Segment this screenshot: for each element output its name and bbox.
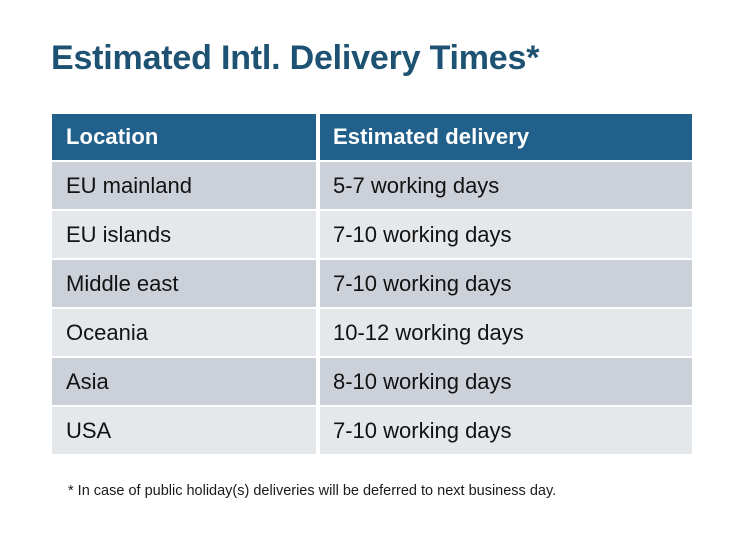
cell-delivery-value: 8-10 working days: [333, 369, 512, 395]
cell-delivery-value: 7-10 working days: [333, 271, 512, 297]
table-header-cell-location: Location: [52, 114, 316, 160]
table-row: Asia 8-10 working days: [52, 358, 692, 405]
table-row: Middle east 7-10 working days: [52, 260, 692, 307]
column-header-location: Location: [66, 124, 158, 150]
table-cell-delivery: 7-10 working days: [320, 260, 692, 307]
table-cell-location: USA: [52, 407, 316, 454]
cell-delivery-value: 10-12 working days: [333, 320, 524, 346]
cell-location-value: EU islands: [66, 222, 171, 248]
table-cell-delivery: 7-10 working days: [320, 211, 692, 258]
cell-delivery-value: 7-10 working days: [333, 418, 512, 444]
cell-location-value: EU mainland: [66, 173, 192, 199]
table-row: EU islands 7-10 working days: [52, 211, 692, 258]
table-cell-location: EU islands: [52, 211, 316, 258]
column-header-delivery: Estimated delivery: [333, 124, 529, 150]
table-cell-delivery: 10-12 working days: [320, 309, 692, 356]
cell-location-value: Asia: [66, 369, 109, 395]
cell-delivery-value: 5-7 working days: [333, 173, 499, 199]
cell-delivery-value: 7-10 working days: [333, 222, 512, 248]
table-row: USA 7-10 working days: [52, 407, 692, 454]
footnote-text: * In case of public holiday(s) deliverie…: [68, 481, 708, 501]
delivery-times-page: Estimated Intl. Delivery Times* Location…: [0, 0, 745, 536]
table-row: Oceania 10-12 working days: [52, 309, 692, 356]
table-cell-location: Middle east: [52, 260, 316, 307]
delivery-times-table: Location Estimated delivery EU mainland …: [52, 114, 692, 456]
cell-location-value: Oceania: [66, 320, 148, 346]
table-cell-location: Asia: [52, 358, 316, 405]
page-title: Estimated Intl. Delivery Times*: [51, 36, 711, 80]
table-cell-location: Oceania: [52, 309, 316, 356]
table-cell-delivery: 8-10 working days: [320, 358, 692, 405]
cell-location-value: Middle east: [66, 271, 179, 297]
table-header-cell-delivery: Estimated delivery: [320, 114, 692, 160]
table-row: EU mainland 5-7 working days: [52, 162, 692, 209]
table-cell-delivery: 5-7 working days: [320, 162, 692, 209]
table-cell-location: EU mainland: [52, 162, 316, 209]
cell-location-value: USA: [66, 418, 111, 444]
table-header-row: Location Estimated delivery: [52, 114, 692, 160]
table-cell-delivery: 7-10 working days: [320, 407, 692, 454]
